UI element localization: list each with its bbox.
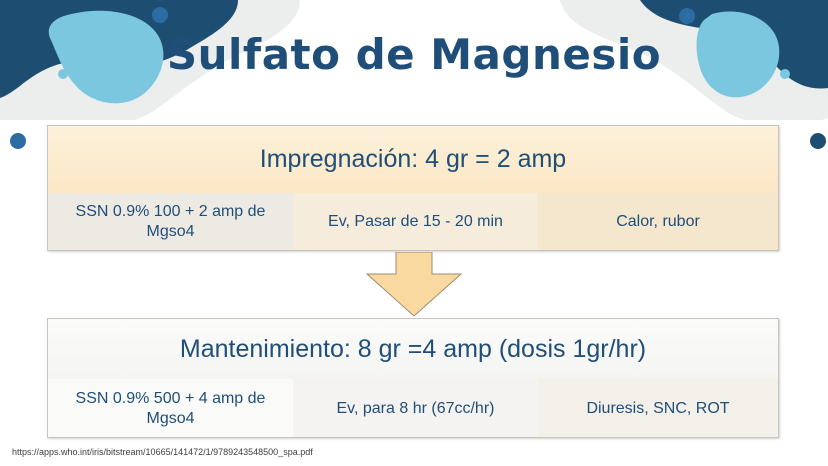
deco-dot-left-mid — [10, 133, 26, 149]
source-url-text: https://apps.who.int/iris/bitstream/1066… — [12, 447, 313, 457]
deco-dot-top-right — [679, 8, 695, 24]
cell-impregnacion-solucion: SSN 0.9% 100 + 2 amp de Mgso4 — [48, 193, 293, 251]
cell-mantenimiento-solucion: SSN 0.9% 500 + 4 amp de Mgso4 — [48, 379, 293, 438]
slide-canvas: Sulfato de Magnesio Impregnación: 4 gr =… — [0, 0, 828, 466]
cell-mantenimiento-monitoreo: Diuresis, SNC, ROT — [538, 379, 778, 438]
table-row: SSN 0.9% 500 + 4 amp de Mgso4 Ev, para 8… — [48, 379, 778, 438]
table-impregnacion: Impregnación: 4 gr = 2 amp SSN 0.9% 100 … — [47, 125, 779, 251]
table-row: SSN 0.9% 100 + 2 amp de Mgso4 Ev, Pasar … — [48, 193, 778, 251]
page-title: Sulfato de Magnesio — [0, 30, 828, 79]
cell-impregnacion-efectos: Calor, rubor — [538, 193, 778, 251]
cell-mantenimiento-via-tiempo: Ev, para 8 hr (67cc/hr) — [293, 379, 538, 438]
down-arrow-icon — [365, 252, 463, 318]
table-impregnacion-header: Impregnación: 4 gr = 2 amp — [48, 126, 778, 193]
table-mantenimiento-header: Mantenimiento: 8 gr =4 amp (dosis 1gr/hr… — [48, 319, 778, 379]
table-mantenimiento: Mantenimiento: 8 gr =4 amp (dosis 1gr/hr… — [47, 318, 779, 438]
deco-dot-top-left — [152, 7, 168, 23]
cell-impregnacion-via-tiempo: Ev, Pasar de 15 - 20 min — [293, 193, 538, 251]
deco-dot-right-mid — [810, 133, 826, 149]
